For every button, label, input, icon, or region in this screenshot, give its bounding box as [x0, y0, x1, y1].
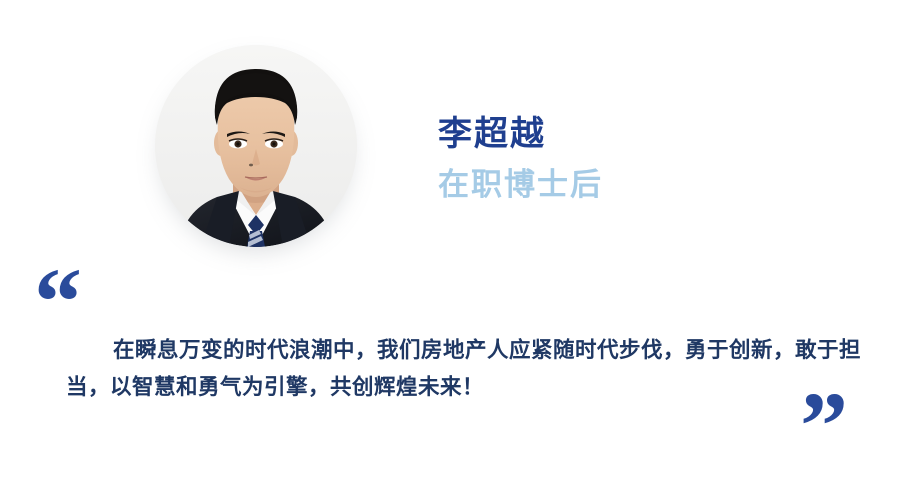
profile-name-block: 李超越 在职博士后 — [438, 112, 603, 206]
profile-quote-card: 李超越 在职博士后 “ ” 在瞬息万变的时代浪潮中，我们房地产人应紧随时代步伐，… — [0, 0, 909, 480]
portrait-photo-icon — [155, 45, 357, 247]
person-title: 在职博士后 — [438, 164, 603, 206]
person-name: 李超越 — [438, 112, 603, 156]
quote-text: 在瞬息万变的时代浪潮中，我们房地产人应紧随时代步伐，勇于创新，敢于担当，以智慧和… — [66, 332, 866, 406]
avatar — [155, 45, 357, 247]
